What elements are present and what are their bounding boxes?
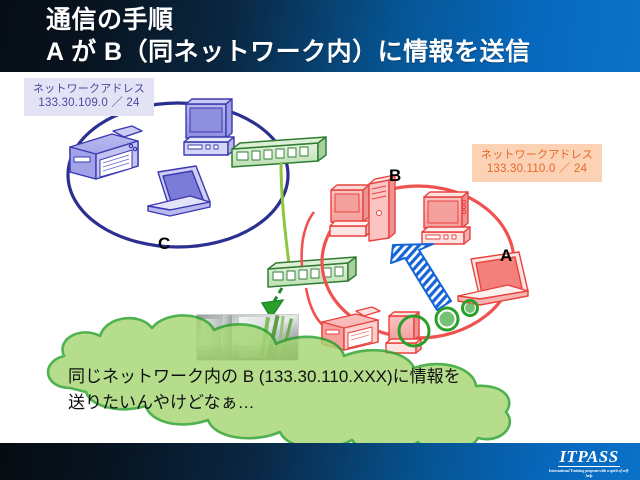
itpass-logo-name: ITPASS (558, 448, 619, 467)
footer-bar (0, 443, 640, 480)
network-address-right-title: ネットワークアドレス (481, 148, 593, 162)
itpass-logo-tagline: International Training program with a sp… (546, 468, 632, 478)
callout-text: 同じネットワーク内の B (133.30.110.XXX)に情報を 送りたいんや… (68, 364, 538, 416)
node-label-c: C (158, 234, 170, 254)
network-address-right: ネットワークアドレス 133.30.110.0 ／ 24 (472, 144, 602, 182)
network-address-left-title: ネットワークアドレス (33, 82, 145, 96)
slide-canvas: 通信の手順 A が B（同ネットワーク内）に情報を送信 (0, 0, 640, 480)
network-address-left: ネットワークアドレス 133.30.109.0 ／ 24 (24, 78, 154, 116)
network-address-left-value: 133.30.109.0 ／ 24 (33, 96, 145, 111)
itpass-logo: ITPASS International Training program wi… (546, 448, 632, 476)
node-label-b: B (389, 166, 401, 186)
node-label-a: A (500, 246, 512, 266)
network-address-right-value: 133.30.110.0 ／ 24 (481, 162, 593, 177)
